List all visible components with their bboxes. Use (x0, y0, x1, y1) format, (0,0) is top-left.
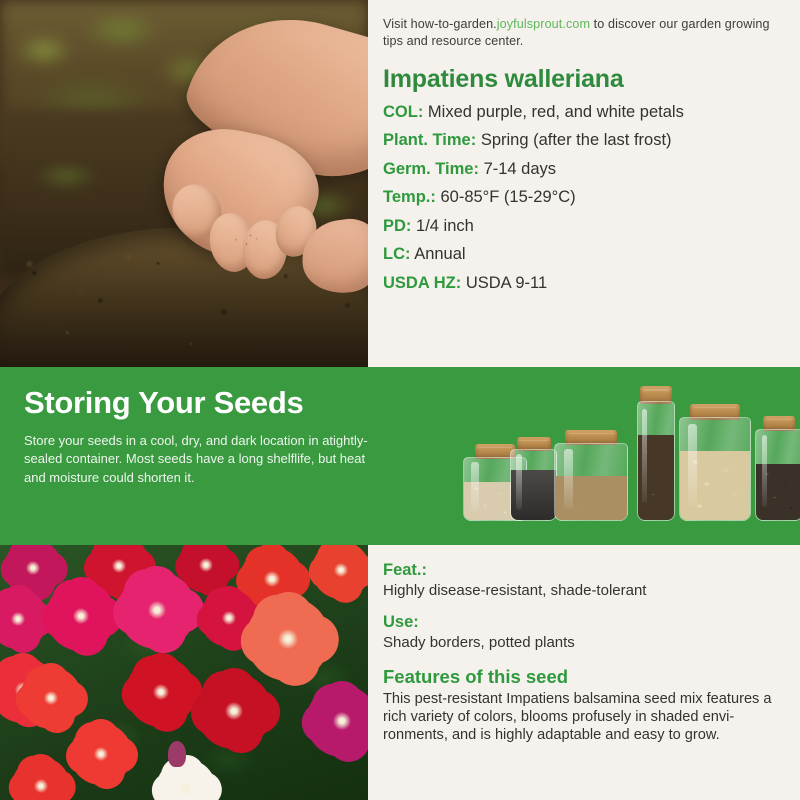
top-row: Visit how-to-garden.joyfulsprout.com to … (0, 0, 800, 367)
spec-label: COL: (383, 103, 423, 121)
flowers-photo (0, 545, 368, 800)
spec-row-germ-time: Germ. Time: 7-14 days (383, 161, 786, 178)
features-body: This pest-resistant Impatiens balsamina … (383, 690, 786, 745)
flower-bloom (196, 673, 272, 749)
spec-row-plant-time: Plant. Time: Spring (after the last fros… (383, 132, 786, 149)
use-label: Use: (383, 613, 786, 632)
visit-prefix: Visit how-to-garden. (383, 17, 497, 31)
jars-photo (455, 367, 800, 545)
spec-label: USDA HZ: (383, 274, 461, 292)
jar-pumpkin-seeds (679, 404, 751, 521)
seed-packet: Visit how-to-garden.joyfulsprout.com to … (0, 0, 800, 800)
flower-bloom (118, 571, 196, 649)
storing-seeds-band: Storing Your Seeds Store your seeds in a… (0, 367, 800, 545)
storing-body: Store your seeds in a cool, dry, and dar… (24, 432, 374, 487)
jar-tan-grain (554, 431, 628, 521)
storing-title: Storing Your Seeds (24, 385, 374, 421)
visit-line: Visit how-to-garden.joyfulsprout.com to … (383, 16, 786, 50)
spec-label: Germ. Time: (383, 160, 479, 178)
jar-sunflower-seeds (755, 417, 800, 521)
glass-highlight (688, 424, 697, 506)
spec-value: 60-85°F (15-29°C) (440, 188, 575, 206)
jar-dark-seeds (637, 387, 675, 521)
glass-highlight (642, 409, 647, 503)
flower-bloom (70, 723, 132, 785)
flower-bloom (306, 685, 368, 757)
flower-bloom (312, 545, 368, 599)
spec-row-lc: LC: Annual (383, 246, 786, 263)
features-block: Features of this seed This pest-resistan… (383, 666, 786, 745)
spec-row-pd: PD: 1/4 inch (383, 218, 786, 235)
species-title: Impatiens walleriana (383, 65, 786, 94)
storing-text-block: Storing Your Seeds Store your seeds in a… (24, 385, 374, 487)
flower-bud (168, 741, 186, 767)
glass-highlight (471, 462, 479, 512)
spec-label: LC: (383, 245, 411, 263)
spec-value: Annual (414, 245, 465, 263)
glass-highlight (564, 449, 573, 510)
features-title: Features of this seed (383, 666, 786, 688)
spec-value: 7-14 days (484, 160, 556, 178)
flower-bloom (46, 581, 116, 651)
seeds-in-hand (228, 231, 268, 253)
feat-value: Highly disease-resistant, shade-tolerant (383, 582, 786, 600)
feat-block: Feat.: Highly disease-resistant, shade-t… (383, 561, 786, 600)
info-panel: Visit how-to-garden.joyfulsprout.com to … (368, 0, 800, 367)
glass-highlight (762, 435, 768, 507)
website-link[interactable]: joyfulsprout.com (497, 17, 590, 31)
flower-bloom (126, 657, 196, 727)
spec-list: COL: Mixed purple, red, and white petals… (383, 104, 786, 292)
spec-label: Temp.: (383, 188, 436, 206)
spec-row-usda-hz: USDA HZ: USDA 9-11 (383, 275, 786, 292)
spec-value: Mixed purple, red, and white petals (428, 103, 684, 121)
spec-row-col: COL: Mixed purple, red, and white petals (383, 104, 786, 121)
flower-bloom (20, 667, 82, 729)
spec-value: Spring (after the last frost) (481, 131, 672, 149)
flower-bloom (246, 597, 330, 681)
use-block: Use: Shady borders, potted plants (383, 613, 786, 652)
soil-photo (0, 0, 368, 367)
feat-label: Feat.: (383, 561, 786, 580)
spec-value: USDA 9-11 (466, 274, 547, 292)
glass-highlight (516, 454, 522, 510)
features-panel: Feat.: Highly disease-resistant, shade-t… (368, 545, 800, 800)
spec-label: Plant. Time: (383, 131, 476, 149)
use-value: Shady borders, potted plants (383, 634, 786, 652)
spec-row-temp: Temp.: 60-85°F (15-29°C) (383, 189, 786, 206)
spec-value: 1/4 inch (416, 217, 474, 235)
spec-label: PD: (383, 217, 411, 235)
jar-dark-powder (510, 437, 557, 521)
bottom-row: Feat.: Highly disease-resistant, shade-t… (0, 545, 800, 800)
